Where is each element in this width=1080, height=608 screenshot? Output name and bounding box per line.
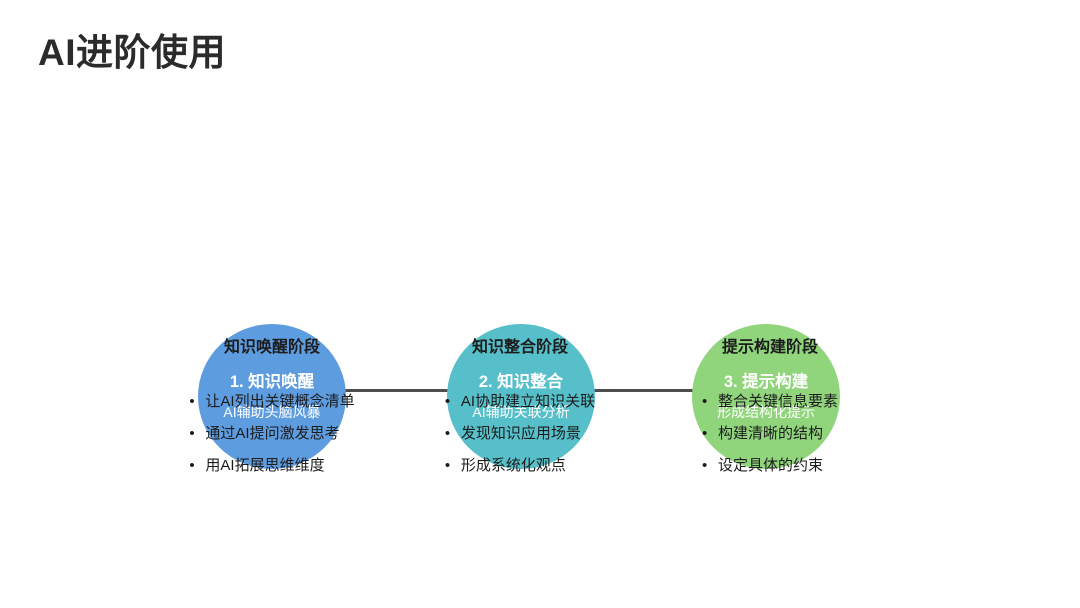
list-item: • 设定具体的约束	[702, 458, 838, 473]
bullet-dot-icon: •	[702, 426, 718, 441]
list-item-label: 发现知识应用场景	[461, 426, 581, 441]
bullet-dot-icon: •	[702, 458, 718, 473]
stage-column-1-bullets: • 让AI列出关键概念清单 • 通过AI提问激发思考 • 用AI拓展思维维度	[189, 394, 354, 490]
list-item: • 通过AI提问激发思考	[189, 426, 354, 441]
page-title: AI进阶使用	[38, 22, 226, 76]
process-flow-diagram: 1. 知识唤醒 AI辅助头脑风暴 2. 知识整合 AI辅助关联分析 3. 提示构…	[0, 160, 1080, 315]
list-item-label: 让AI列出关键概念清单	[205, 394, 354, 409]
list-item: • 用AI拓展思维维度	[189, 458, 354, 473]
list-item: • 构建清晰的结构	[702, 426, 838, 441]
bullet-dot-icon: •	[445, 394, 461, 409]
bullet-dot-icon: •	[445, 426, 461, 441]
list-item-label: 通过AI提问激发思考	[205, 426, 339, 441]
stage-detail-columns: 知识唤醒阶段 • 让AI列出关键概念清单 • 通过AI提问激发思考 • 用AI拓…	[0, 340, 1080, 490]
list-item: • 形成系统化观点	[445, 458, 595, 473]
stage-column-2-bullets: • AI协助建立知识关联 • 发现知识应用场景 • 形成系统化观点	[445, 394, 595, 490]
list-item-label: AI协助建立知识关联	[461, 394, 595, 409]
stage-column-3-bullets: • 整合关键信息要素 • 构建清晰的结构 • 设定具体的约束	[702, 394, 838, 490]
stage-column-3: 提示构建阶段 • 整合关键信息要素 • 构建清晰的结构 • 设定具体的约束	[646, 340, 894, 490]
bullet-dot-icon: •	[189, 426, 205, 441]
list-item-label: 设定具体的约束	[718, 458, 823, 473]
list-item: • 发现知识应用场景	[445, 426, 595, 441]
list-item-label: 整合关键信息要素	[718, 394, 838, 409]
list-item-label: 构建清晰的结构	[718, 426, 823, 441]
bullet-dot-icon: •	[189, 458, 205, 473]
bullet-dot-icon: •	[445, 458, 461, 473]
bullet-dot-icon: •	[189, 394, 205, 409]
stage-column-2-heading: 知识整合阶段	[472, 340, 568, 356]
stage-column-2: 知识整合阶段 • AI协助建立知识关联 • 发现知识应用场景 • 形成系统化观点	[396, 340, 644, 490]
list-item-label: 用AI拓展思维维度	[205, 458, 324, 473]
list-item-label: 形成系统化观点	[461, 458, 566, 473]
stage-column-3-heading: 提示构建阶段	[722, 340, 818, 356]
bullet-dot-icon: •	[702, 394, 718, 409]
list-item: • 让AI列出关键概念清单	[189, 394, 354, 409]
list-item: • 整合关键信息要素	[702, 394, 838, 409]
list-item: • AI协助建立知识关联	[445, 394, 595, 409]
stage-column-1: 知识唤醒阶段 • 让AI列出关键概念清单 • 通过AI提问激发思考 • 用AI拓…	[148, 340, 396, 490]
slide-canvas: AI进阶使用 1. 知识唤醒 AI辅助头脑风暴 2. 知识整合 AI辅助关联分析…	[0, 0, 1080, 608]
stage-column-1-heading: 知识唤醒阶段	[224, 340, 320, 356]
